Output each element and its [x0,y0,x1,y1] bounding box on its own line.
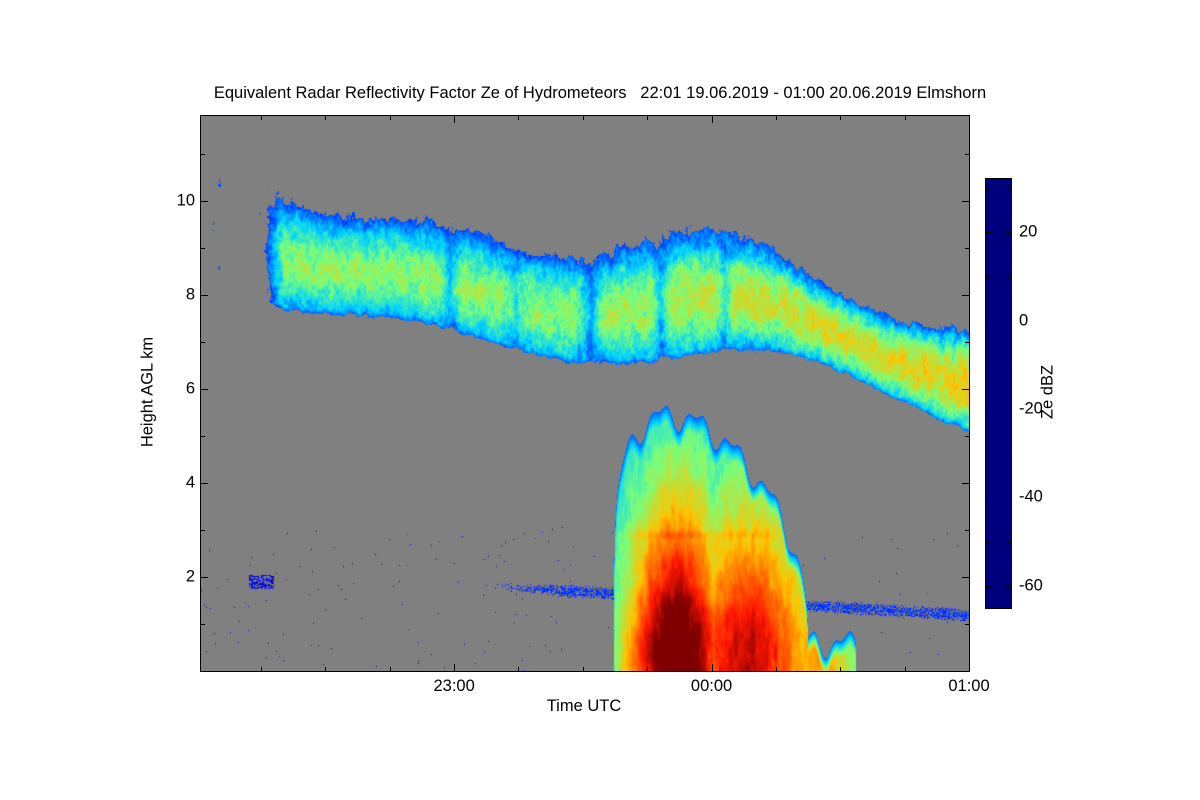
y-axis-tick-label: 2 [186,567,195,586]
y-axis-tick-label: 4 [186,473,195,492]
y-axis-tick [962,577,969,578]
radar-reflectivity-heatmap [201,116,969,671]
x-axis-minor-tick [776,667,777,671]
y-axis-tick-label: 10 [177,191,195,210]
x-axis-minor-tick [390,667,391,671]
colorbar-tick [1006,586,1011,587]
x-axis-minor-tick [840,116,841,120]
y-axis-tick [201,201,208,202]
colorbar-tick [986,321,991,322]
x-axis-minor-tick [583,116,584,120]
colorbar-minor-tick [1008,365,1011,366]
colorbar-tick [986,586,991,587]
x-axis-tick [969,664,970,671]
y-axis-minor-tick [965,624,969,625]
y-axis-minor-tick [965,530,969,531]
x-axis-minor-tick [518,667,519,671]
y-axis-minor-tick [965,342,969,343]
page-title: Equivalent Radar Reflectivity Factor Ze … [0,84,1200,103]
x-axis-minor-tick [840,667,841,671]
radar-figure: Equivalent Radar Reflectivity Factor Ze … [0,0,1200,800]
colorbar-tick [1006,409,1011,410]
y-axis-tick [962,295,969,296]
colorbar-tick-label: -60 [1019,576,1043,595]
x-axis-minor-tick [905,667,906,671]
y-axis-tick [201,389,208,390]
colorbar-tick [1006,321,1011,322]
y-axis-minor-tick [201,624,205,625]
x-axis-tick [454,664,455,671]
y-axis-tick [201,483,208,484]
colorbar[interactable]: 200-20-40-60 [985,178,1012,609]
radar-plot-area[interactable]: 24681023:0000:0001:00 [200,115,970,672]
colorbar-minor-tick [986,453,989,454]
x-axis-minor-tick [325,667,326,671]
y-axis-minor-tick [201,530,205,531]
y-axis-minor-tick [965,248,969,249]
x-axis-tick-label: 00:00 [691,677,732,696]
x-axis-minor-tick [776,116,777,120]
x-axis-tick-label: 01:00 [948,677,989,696]
y-axis-minor-tick [965,436,969,437]
x-axis-minor-tick [905,116,906,120]
y-axis-minor-tick [965,154,969,155]
x-axis-minor-tick [647,116,648,120]
y-axis-tick [962,389,969,390]
colorbar-minor-tick [1008,188,1011,189]
colorbar-minor-tick [1008,276,1011,277]
x-axis-tick [712,116,713,123]
y-axis-minor-tick [201,248,205,249]
y-axis-tick [962,483,969,484]
x-axis-minor-tick [647,667,648,671]
x-axis-tick-label: 23:00 [433,677,474,696]
x-axis-minor-tick [261,116,262,120]
colorbar-tick-label: 0 [1019,311,1028,330]
y-axis-minor-tick [201,342,205,343]
x-axis-title: Time UTC [547,697,622,716]
x-axis-tick [712,664,713,671]
y-axis-tick-label: 8 [186,285,195,304]
colorbar-tick [986,409,991,410]
colorbar-minor-tick [1008,453,1011,454]
y-axis-minor-tick [201,436,205,437]
x-axis-tick [969,116,970,123]
colorbar-tick-label: -40 [1019,488,1043,507]
x-axis-minor-tick [325,116,326,120]
colorbar-tick [1006,497,1011,498]
y-axis-tick [201,577,208,578]
y-axis-title: Height AGL km [139,337,158,447]
colorbar-title: Ze dBZ [1039,365,1058,419]
x-axis-minor-tick [390,116,391,120]
x-axis-minor-tick [518,116,519,120]
colorbar-minor-tick [986,188,989,189]
colorbar-minor-tick [986,365,989,366]
x-axis-minor-tick [583,667,584,671]
x-axis-minor-tick [261,667,262,671]
colorbar-minor-tick [986,542,989,543]
colorbar-tick [1006,232,1011,233]
y-axis-tick [962,201,969,202]
y-axis-tick-label: 6 [186,379,195,398]
x-axis-tick [454,116,455,123]
colorbar-tick-label: 20 [1019,223,1037,242]
colorbar-minor-tick [986,276,989,277]
y-axis-minor-tick [201,154,205,155]
y-axis-tick [201,295,208,296]
colorbar-gradient [986,179,1011,608]
colorbar-tick [986,232,991,233]
colorbar-tick [986,497,991,498]
colorbar-minor-tick [1008,542,1011,543]
